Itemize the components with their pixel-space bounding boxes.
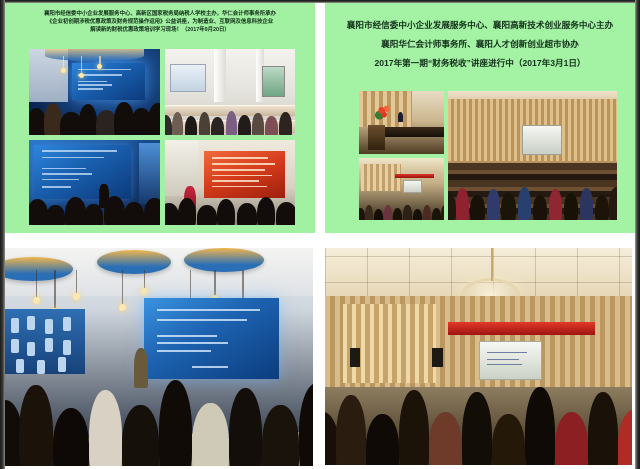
panel-top-left: 襄阳市经信委中小企业发展服务中心、高新区国家税务局纳税人学校主办，华仁会计师事务… xyxy=(5,3,315,233)
scan-edge-right xyxy=(635,0,640,469)
photo-wood-panel-conference-hall xyxy=(448,91,617,220)
top-left-title-line-3: 解读新的财税优惠政策培训学习现场！（2017年9月20日） xyxy=(11,26,309,34)
photo-large-wood-auditorium xyxy=(325,248,632,465)
audience-silhouettes xyxy=(325,343,632,465)
audience-silhouettes xyxy=(29,187,160,225)
photo-blue-screen-speaker xyxy=(29,140,160,226)
panel-top-right: 襄阳市经信委中小企业发展服务中心、襄阳高新技术创业服务中心主办 襄阳华仁会计师事… xyxy=(325,3,635,233)
red-banner xyxy=(448,322,595,335)
top-right-title-block: 襄阳市经信委中小企业发展服务中心、襄阳高新技术创业服务中心主办 襄阳华仁会计师事… xyxy=(325,3,635,73)
top-right-title-line-2: 襄阳华仁会计师事务所、襄阳人才创新创业超市协办 xyxy=(331,35,629,54)
photo-far-view-auditorium xyxy=(359,158,444,221)
photo-podium-with-flowers xyxy=(359,91,444,154)
audience-silhouettes xyxy=(165,189,296,225)
photo-large-blue-screen-auditorium xyxy=(5,248,313,466)
audience-silhouettes xyxy=(29,93,160,134)
top-right-photo-grid xyxy=(359,91,617,220)
photo-white-room-seated-audience xyxy=(165,49,296,135)
audience-silhouettes xyxy=(359,185,444,220)
poster-page: 襄阳市经信委中小企业发展服务中心、高新区国家税务局纳税人学校主办，华仁会计师事务… xyxy=(0,0,640,469)
top-right-title-line-1: 襄阳市经信委中小企业发展服务中心、襄阳高新技术创业服务中心主办 xyxy=(331,16,629,35)
audience-silhouettes xyxy=(5,340,313,466)
photo-blue-screen-lecture-hall xyxy=(29,49,160,135)
audience-silhouettes xyxy=(165,87,296,135)
top-right-title-line-3: 2017年第一期“财务税收”讲座进行中（2017年3月1日） xyxy=(331,54,629,73)
top-left-photo-grid xyxy=(29,49,295,225)
audience-silhouettes xyxy=(448,148,617,215)
photo-red-screen-presentation xyxy=(165,140,296,226)
top-left-title-line-2: 《企业初创期涉税优惠政策及财务规范操作运用》公益讲座，为制造业、互联网及信息科技… xyxy=(11,18,309,26)
top-left-title-line-1: 襄阳市经信委中小企业发展服务中心、高新区国家税务局纳税人学校主办，华仁会计师事务… xyxy=(11,10,309,18)
top-left-title-block: 襄阳市经信委中小企业发展服务中心、高新区国家税务局纳税人学校主办，华仁会计师事务… xyxy=(5,3,315,35)
